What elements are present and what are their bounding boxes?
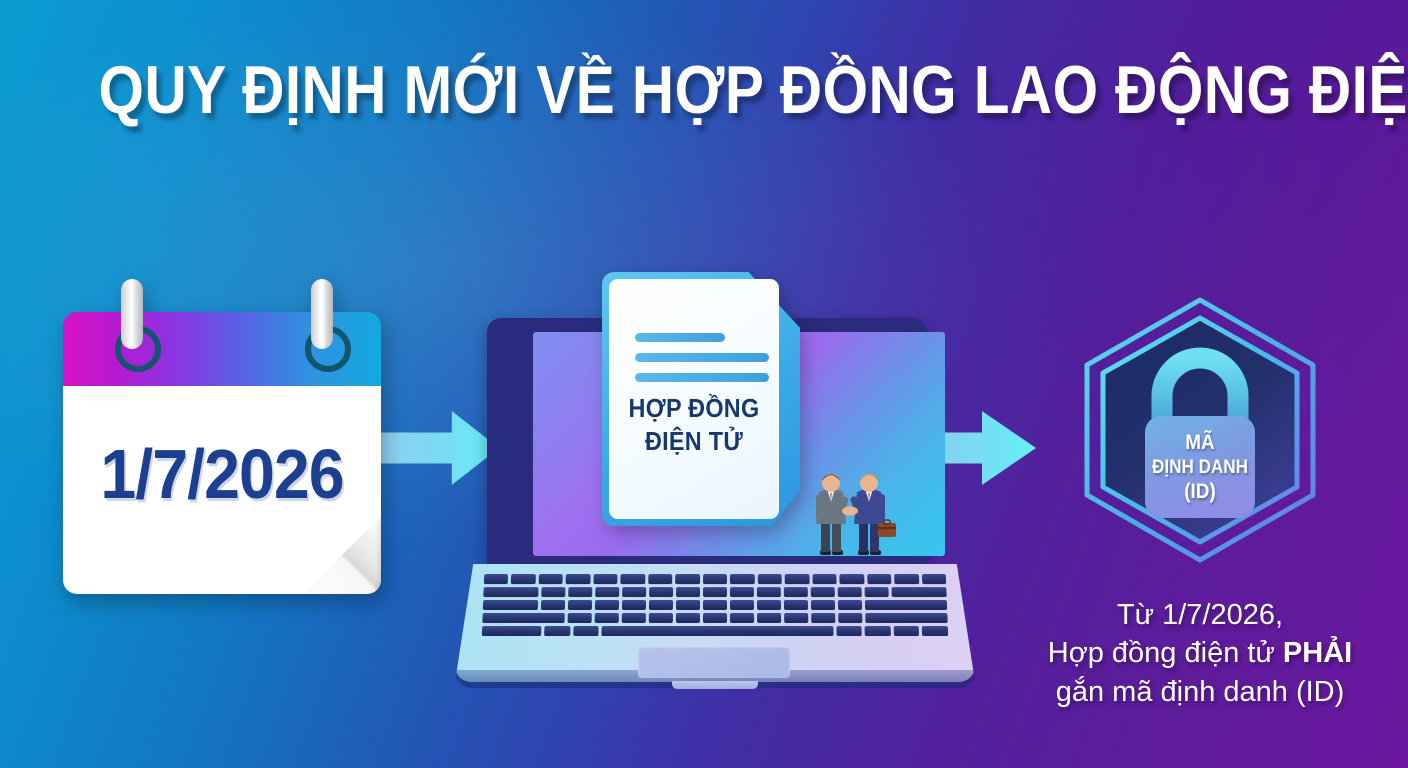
- person-left: [816, 474, 849, 555]
- document-label-line2: ĐIỆN TỬ: [618, 425, 771, 458]
- document-text-line: [635, 373, 769, 382]
- calendar-date: 1/7/2026: [76, 434, 369, 514]
- document-label: HỢP ĐỒNG ĐIỆN TỬ: [618, 392, 771, 459]
- caption-line-3: gắn mã định danh (ID): [1000, 673, 1400, 711]
- keyboard-row: [482, 626, 948, 636]
- caption-line-2-text: Hợp đồng điện tử: [1048, 637, 1283, 669]
- document-label-line1: HỢP ĐỒNG: [618, 392, 771, 425]
- calendar-ring-right: [311, 279, 333, 349]
- laptop-front-notch: [672, 681, 758, 689]
- caption-line-1: Từ 1/7/2026,: [1000, 596, 1400, 634]
- document-icon: HỢP ĐỒNG ĐIỆN TỬ: [602, 272, 800, 526]
- keyboard-row: [483, 600, 947, 610]
- calendar-page-curl-highlight: [303, 516, 381, 594]
- calendar-body: 1/7/2026: [63, 386, 381, 594]
- keyboard-row: [484, 574, 946, 584]
- caption-emphasis: PHẢI: [1283, 637, 1352, 669]
- document-text-line: [635, 353, 769, 362]
- calendar-icon: 1/7/2026: [63, 312, 381, 594]
- laptop-trackpad: [638, 646, 790, 678]
- lock-body: [1145, 416, 1255, 518]
- document-text-line: [635, 333, 725, 342]
- page-title: QUY ĐỊNH MỚI VỀ HỢP ĐỒNG LAO ĐỘNG ĐIỆN T…: [99, 56, 1310, 124]
- caption-line-2: Hợp đồng điện tử PHẢI: [1000, 634, 1400, 672]
- laptop-keyboard: [482, 574, 948, 636]
- badge-caption: Từ 1/7/2026, Hợp đồng điện tử PHẢI gắn m…: [1000, 596, 1400, 711]
- person-right: [849, 474, 896, 555]
- keyboard-row: [483, 587, 946, 597]
- handshake-icon: [800, 466, 900, 564]
- keyboard-row: [482, 613, 947, 623]
- lock-icon: MÃ ĐỊNH DANH (ID): [1060, 290, 1340, 590]
- calendar-ring-left: [121, 279, 143, 349]
- infographic-canvas: QUY ĐỊNH MỚI VỀ HỢP ĐỒNG LAO ĐỘNG ĐIỆN T…: [0, 0, 1408, 768]
